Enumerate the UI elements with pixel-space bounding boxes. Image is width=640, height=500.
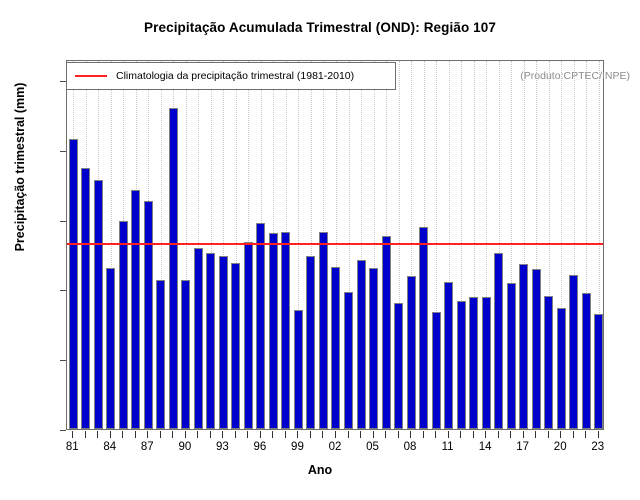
x-tick-mark [85,431,86,438]
x-tick-mark [172,431,173,438]
bar-2006 [382,236,391,429]
x-tick-label: 20 [554,441,567,453]
bar-1984 [106,268,115,429]
bar-1993 [219,256,228,429]
x-tick-mark [485,431,486,438]
bar-1994 [231,263,240,430]
y-tick-mark [60,290,66,291]
x-tick-label: 11 [442,441,454,453]
bar-2016 [507,283,516,429]
x-tick-label: 08 [404,441,417,453]
bar-2015 [494,253,503,429]
x-tick-mark [473,431,474,438]
bar-2014 [482,297,491,429]
legend-label: Climatologia da precipitação trimestral … [116,70,354,82]
x-tick-mark [548,431,549,438]
bar-2010 [432,312,441,429]
x-tick-mark [160,431,161,438]
x-tick-mark [385,431,386,438]
y-axis-label: Precipitação trimestral (mm) [13,0,27,347]
x-tick-label: 99 [291,441,304,453]
x-tick-mark [110,431,111,438]
x-tick-mark [297,431,298,438]
x-tick-mark [322,431,323,438]
x-tick-mark [448,431,449,438]
y-tick-mark [60,151,66,152]
x-tick-mark [373,431,374,438]
bar-2009 [419,227,428,429]
plot-inner [67,61,603,429]
bar-1985 [119,221,128,429]
x-tick-mark [335,431,336,438]
bar-2011 [444,282,453,429]
x-tick-mark [247,431,248,438]
x-tick-mark [310,431,311,438]
bar-1983 [94,180,103,429]
bar-2018 [532,269,541,429]
x-tick-mark [210,431,211,438]
y-tick-mark [60,221,66,222]
bar-1991 [194,248,203,430]
x-tick-mark [222,431,223,438]
bar-1981 [69,139,78,429]
bar-2013 [469,297,478,429]
legend-box: Climatologia da precipitação trimestral … [66,62,396,90]
x-tick-label: 87 [141,441,154,453]
x-tick-mark [185,431,186,438]
bar-2020 [557,308,566,429]
bar-1986 [131,190,140,429]
bar-2005 [369,268,378,429]
bar-2001 [319,232,328,429]
x-tick-label: 23 [591,441,604,453]
bar-2004 [357,260,366,429]
x-tick-mark [72,431,73,438]
bar-2022 [582,293,591,429]
x-tick-mark [535,431,536,438]
chart-canvas: Precipitação Acumulada Trimestral (OND):… [0,0,640,500]
bar-1995 [244,242,253,429]
plot-area [66,60,604,430]
bar-1997 [269,233,278,429]
bar-1988 [156,280,165,429]
bar-2000 [306,256,315,429]
bar-2017 [519,264,528,429]
y-tick-mark [60,360,66,361]
x-tick-label: 17 [516,441,529,453]
bar-1990 [181,280,190,429]
bar-1998 [281,232,290,429]
y-tick-mark [60,430,66,431]
x-axis-label: Ano [0,463,640,477]
x-tick-mark [560,431,561,438]
x-tick-mark [285,431,286,438]
x-tick-mark [147,431,148,438]
bar-2007 [394,303,403,429]
x-tick-mark [97,431,98,438]
bar-1996 [256,223,265,429]
bar-2003 [344,292,353,429]
x-tick-mark [435,431,436,438]
x-tick-mark [410,431,411,438]
bar-1987 [144,201,153,429]
x-tick-label: 84 [103,441,116,453]
x-tick-mark [360,431,361,438]
x-tick-label: 02 [329,441,342,453]
bar-1989 [169,108,178,429]
bar-1982 [81,168,90,429]
x-tick-mark [498,431,499,438]
x-tick-mark [197,431,198,438]
chart-title: Precipitação Acumulada Trimestral (OND):… [0,20,640,35]
bar-1999 [294,310,303,429]
x-tick-label: 93 [216,441,229,453]
bar-2002 [331,267,340,429]
x-tick-label: 96 [254,441,267,453]
producer-annotation: (Produto:CPTEC/INPE) [520,70,630,82]
bar-1992 [206,253,215,429]
x-tick-mark [523,431,524,438]
bar-2012 [457,301,466,429]
x-tick-mark [423,431,424,438]
x-tick-label: 14 [479,441,492,453]
x-tick-mark [348,431,349,438]
x-tick-mark [585,431,586,438]
x-tick-mark [573,431,574,438]
x-tick-mark [122,431,123,438]
legend-line-swatch [75,75,107,77]
x-tick-mark [235,431,236,438]
x-tick-mark [598,431,599,438]
x-tick-mark [510,431,511,438]
x-tick-label: 05 [366,441,379,453]
bar-2008 [407,276,416,429]
bar-2023 [594,314,603,429]
x-tick-label: 81 [66,441,79,453]
x-tick-mark [260,431,261,438]
x-tick-mark [135,431,136,438]
climatology-reference-line [67,243,603,245]
bar-2019 [544,296,553,429]
x-tick-label: 90 [178,441,191,453]
x-tick-mark [398,431,399,438]
x-tick-mark [460,431,461,438]
bar-2021 [569,275,578,429]
x-tick-mark [272,431,273,438]
